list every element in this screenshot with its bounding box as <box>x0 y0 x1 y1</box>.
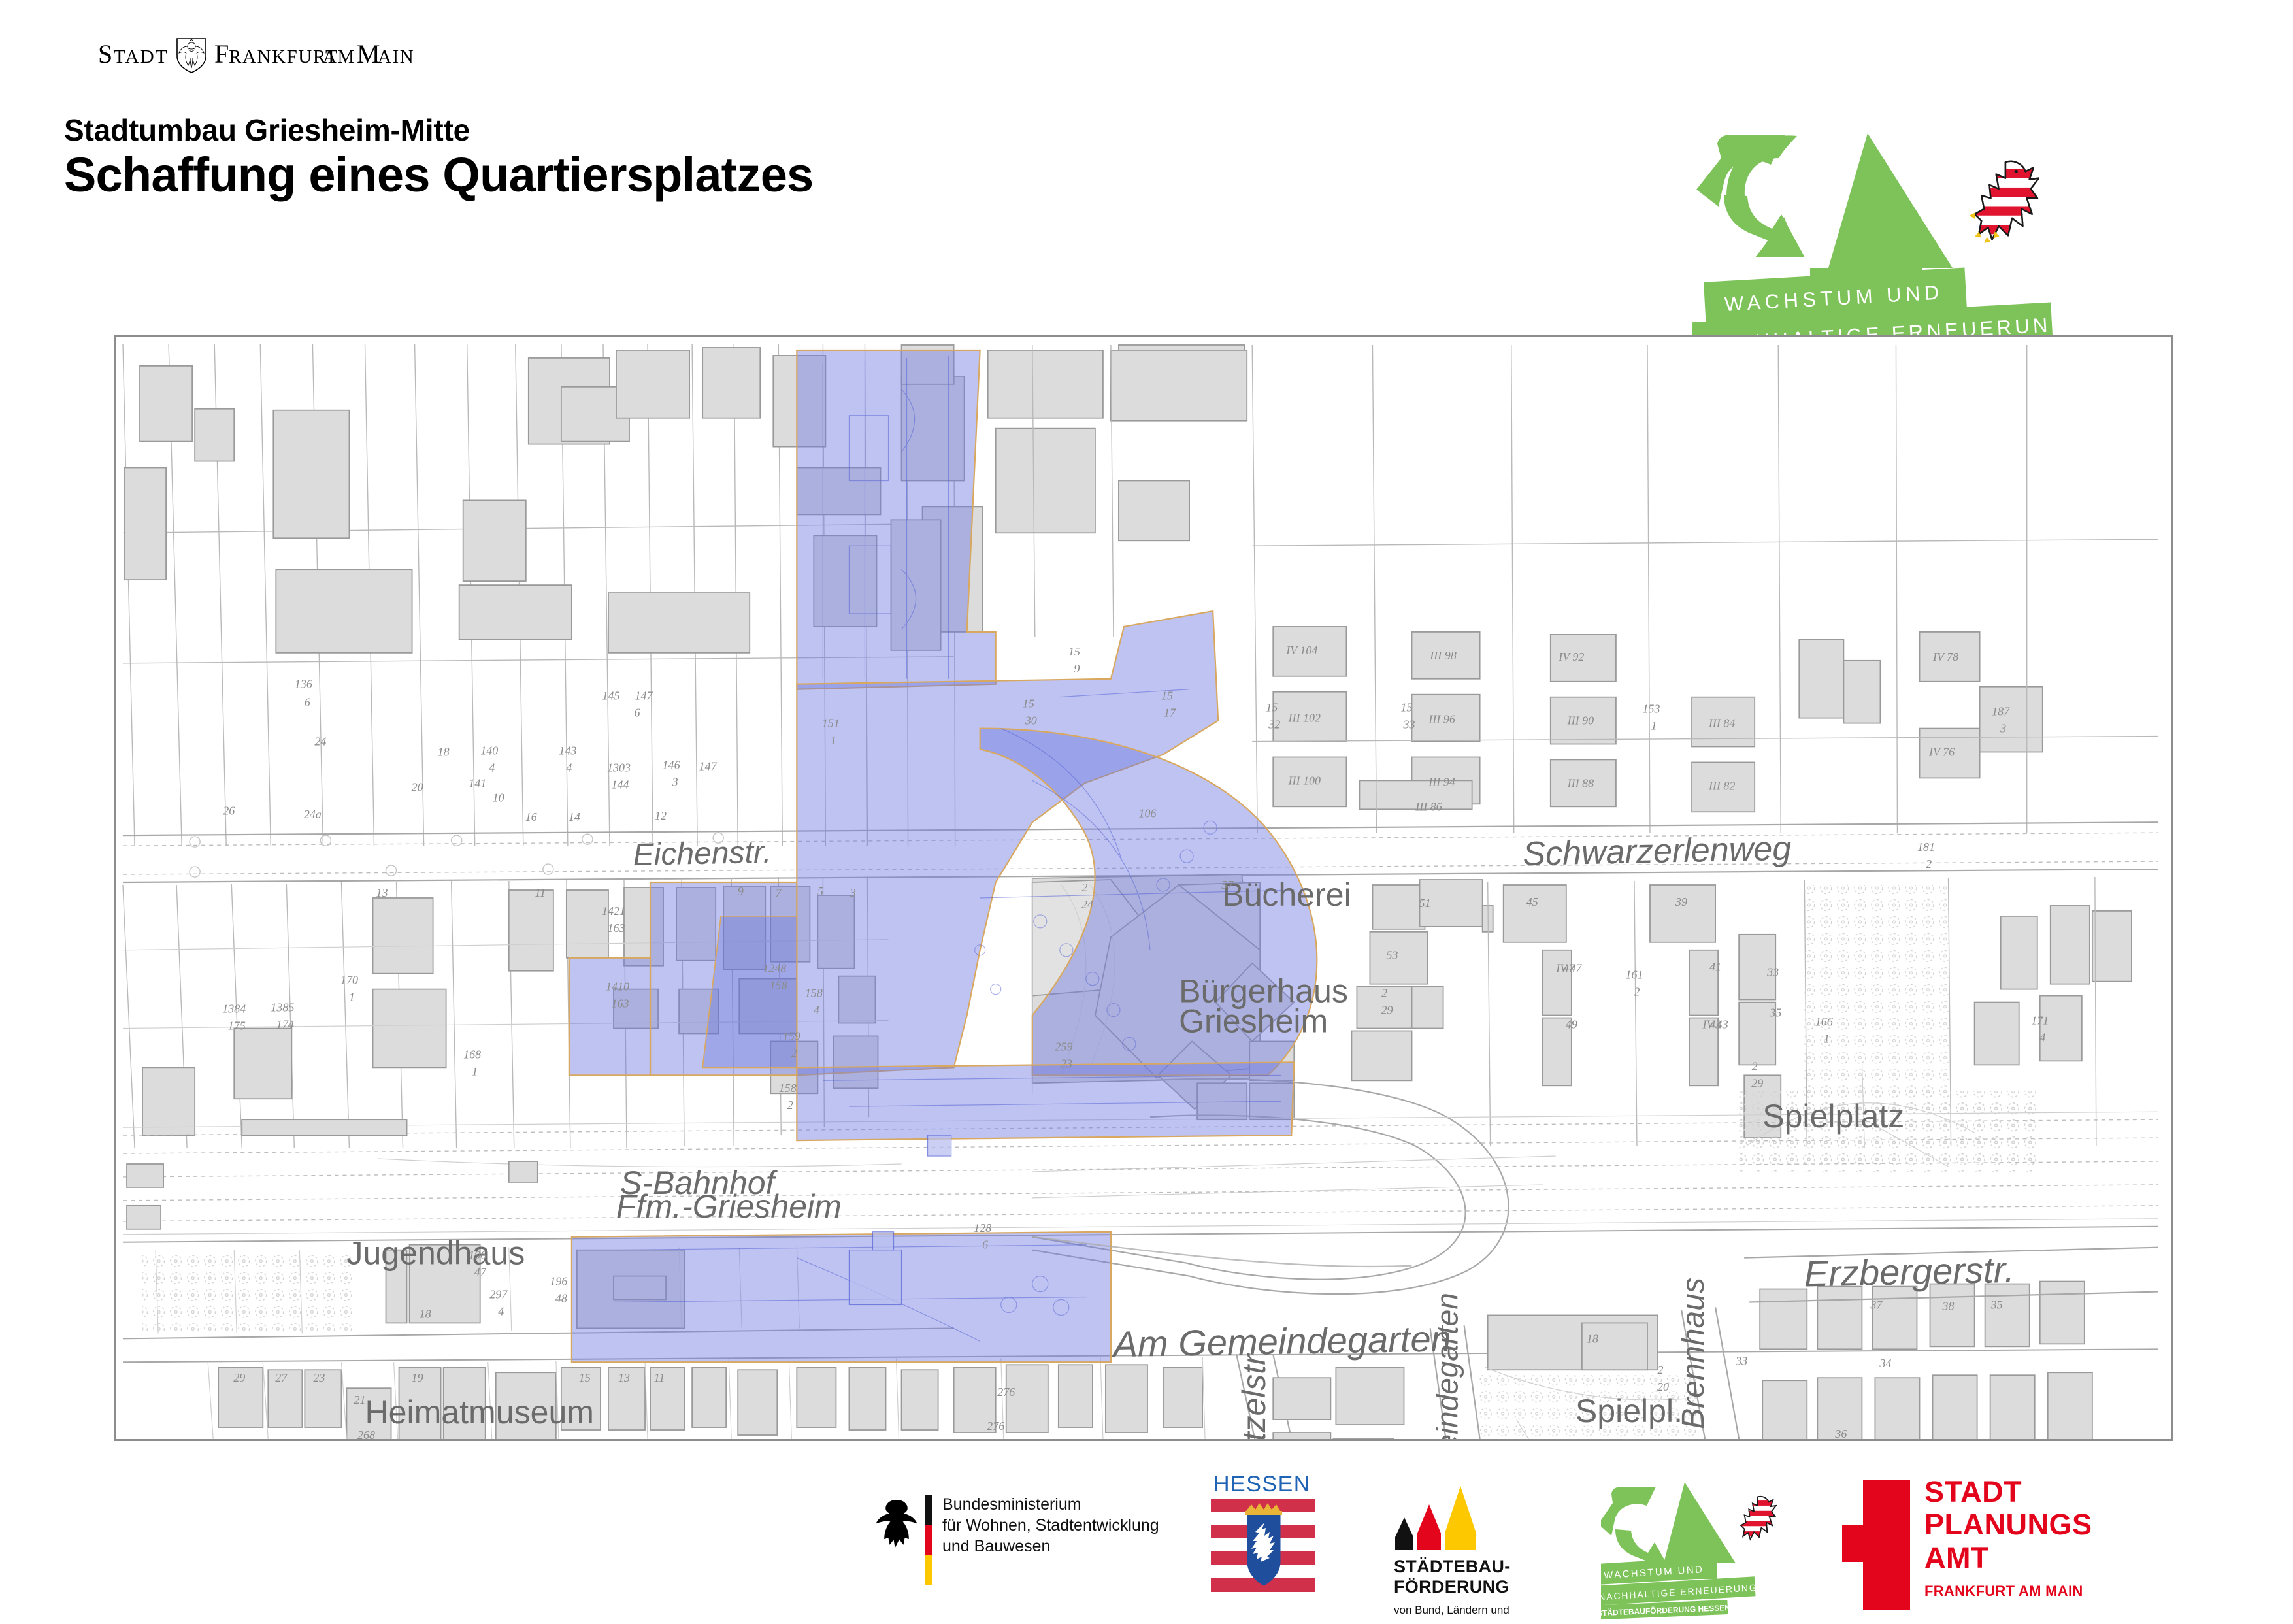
hessen-logo: HESSEN <box>1206 1470 1330 1621</box>
map-parcel-number: III 94 <box>1428 775 1455 788</box>
map-parcel-number: 2 <box>1381 987 1387 1000</box>
page-title: Schaffung eines Quartiersplatzes <box>64 150 813 201</box>
map-parcel-number: 268 <box>357 1429 375 1439</box>
map-parcel-number: 159 <box>783 1029 800 1042</box>
map-parcel-number: III 100 <box>1288 774 1321 787</box>
map-parcel-number: 158 <box>779 1082 797 1095</box>
map-parcel-number: 34 <box>1879 1357 1891 1370</box>
map-parcel-number: 21 <box>354 1393 365 1406</box>
map-parcel-number: 1421 <box>602 904 625 918</box>
staedtebau-sub2: Gemeinden <box>1394 1617 1556 1618</box>
bmwsb-line1: Bundesministerium <box>942 1494 1183 1515</box>
map-parcel-number: 23 <box>313 1371 325 1384</box>
staedtebau-line2: FÖRDERUNG <box>1394 1577 1556 1597</box>
map-parcel-number: 35 <box>1990 1299 2003 1312</box>
map-place-label: Spielplatz <box>1762 1098 1904 1135</box>
map-parcel-number: 32 <box>1268 718 1280 731</box>
page-subtitle: Stadtumbau Griesheim-Mitte <box>64 114 813 146</box>
map-parcel-number: 1 <box>349 991 355 1004</box>
map-parcel-number: 29 <box>1751 1076 1763 1089</box>
spa-line2: PLANUNGS <box>1924 1508 2179 1541</box>
program-logo-small: WACHSTUM UND NACHHALTIGE ERNEUERUNG STÄD… <box>1601 1470 1797 1621</box>
map-parcel-number: 151 <box>822 717 840 730</box>
map-parcel-number: III 82 <box>1708 779 1736 792</box>
map-parcel-number: 3 <box>672 775 678 788</box>
map-parcel-number: 35 <box>1769 1006 1781 1019</box>
map-parcel-number: 1410 <box>606 980 629 993</box>
map-parcel-number: 57 <box>1221 878 1234 891</box>
map-parcel-number: 163 <box>611 997 629 1010</box>
map-parcel-number: 2 <box>791 1046 797 1059</box>
map-parcel-number: 26 <box>223 804 235 817</box>
map-parcel-number: 143 <box>559 744 576 757</box>
map-parcel-number: 7 <box>776 886 782 899</box>
map-parcel-number: 11 <box>654 1371 665 1384</box>
map-parcel-number: 33 <box>1403 718 1415 731</box>
map-parcel-number: 144 <box>611 778 629 791</box>
map-parcel-number: 38 <box>1942 1299 1955 1312</box>
map-parcel-number: 36 <box>1834 1427 1847 1439</box>
map-parcel-number: 23 <box>1061 1057 1072 1070</box>
map-parcel-number: 147 <box>699 759 718 772</box>
svg-text:RANKFURT: RANKFURT <box>229 46 338 67</box>
map-parcel-number: 41 <box>1709 961 1721 974</box>
map-parcel-number: III 88 <box>1567 776 1594 789</box>
map-parcel-number: IV 47 <box>1555 962 1582 975</box>
map-parcel-number: IV 43 <box>1702 1018 1728 1031</box>
map-parcel-number: 15 <box>579 1371 591 1384</box>
svg-text:M: M <box>357 39 380 69</box>
map-parcel-number: 4 <box>498 1304 504 1317</box>
map-place-label: Spielpl. <box>1575 1393 1683 1429</box>
map-parcel-number: 9 <box>738 885 744 898</box>
map-parcel-number: III 86 <box>1415 800 1442 813</box>
map-parcel-number: 175 <box>228 1019 246 1033</box>
map-parcel-number: 181 <box>1917 840 1935 853</box>
map-parcel-number: 9 <box>1074 662 1080 675</box>
svg-text:F: F <box>214 39 229 69</box>
map-parcel-number: 11 <box>535 886 546 899</box>
map-place-label: Bücherei <box>1222 876 1351 913</box>
map-street-label: Am Gemeindegarten <box>1430 1293 1464 1439</box>
map-parcel-number: 15 <box>1401 701 1413 714</box>
map-parcel-number: 166 <box>1815 1016 1833 1029</box>
map-parcel-number: IV 76 <box>1928 746 1955 759</box>
map-parcel-number: 15 <box>1161 689 1173 703</box>
map-parcel-number: 19 <box>412 1371 423 1384</box>
map-parcel-number: 47 <box>474 1266 487 1279</box>
map-parcel-number: 29 <box>1381 1004 1393 1017</box>
map-parcel-number: 163 <box>607 921 625 935</box>
map-parcel-number: 170 <box>340 974 358 987</box>
map-parcel-number: 128 <box>974 1221 991 1235</box>
cadastral-map[interactable]: .bl{fill:#dcdcdc;stroke:#9a9a9a;stroke-w… <box>114 335 2173 1441</box>
map-parcel-number: 13 <box>376 886 388 899</box>
map-parcel-number: 158 <box>770 979 787 992</box>
map-parcel-number: 13 <box>618 1371 630 1384</box>
map-parcel-number: IV 92 <box>1558 650 1584 663</box>
map-parcel-number: 141 <box>469 776 486 789</box>
map-parcel-number: 196 <box>550 1275 567 1288</box>
map-street-label: Eichenstr. <box>633 835 772 872</box>
map-parcel-number: 4 <box>814 1004 819 1017</box>
spa-line3: AMT <box>1924 1542 2179 1574</box>
map-parcel-number: 2 <box>1081 881 1087 894</box>
svg-text:AM: AM <box>323 46 355 67</box>
title-block: Stadtumbau Griesheim-Mitte Schaffung ein… <box>64 114 813 201</box>
map-parcel-number: 30 <box>1025 714 1037 727</box>
map-street-label: Schwarzerlenweg <box>1523 830 1792 873</box>
map-parcel-number: 14 <box>569 810 580 823</box>
map-parcel-number: 6 <box>982 1238 988 1251</box>
svg-text:TADT: TADT <box>114 46 169 67</box>
map-parcel-number: 24a <box>304 808 322 821</box>
map-parcel-number: 196 <box>469 1249 486 1262</box>
map-parcel-number: 15 <box>1068 645 1080 658</box>
map-place-label: Jugendhaus <box>346 1235 525 1272</box>
map-parcel-number: 37 <box>1870 1299 1883 1312</box>
map-canvas[interactable]: .bl{fill:#dcdcdc;stroke:#9a9a9a;stroke-w… <box>116 337 2171 1439</box>
map-parcel-number: 259 <box>1055 1040 1072 1053</box>
map-parcel-number: 12 <box>655 809 667 822</box>
map-parcel-number: 24 <box>1081 898 1093 911</box>
map-parcel-number: 1384 <box>222 1003 246 1016</box>
map-place-label: Heimatmuseum <box>365 1394 594 1431</box>
map-parcel-number: III 90 <box>1567 714 1594 727</box>
staedtebau-sub1: von Bund, Ländern und <box>1394 1603 1556 1617</box>
map-parcel-number: III 102 <box>1288 712 1321 725</box>
map-parcel-number: 276 <box>997 1385 1015 1399</box>
map-parcel-number: 146 <box>663 758 680 771</box>
staedtebaufoerderung-logo: STÄDTEBAU- FÖRDERUNG von Bund, Ländern u… <box>1389 1470 1559 1621</box>
svg-text:AIN: AIN <box>378 46 414 67</box>
map-parcel-number: 2 <box>1752 1059 1758 1072</box>
map-parcel-number: 18 <box>1587 1332 1598 1345</box>
map-parcel-number: 1 <box>1824 1032 1830 1045</box>
map-parcel-number: 15 <box>1023 697 1034 710</box>
map-parcel-number: 171 <box>2031 1014 2049 1027</box>
map-parcel-number: 27 <box>275 1371 288 1384</box>
map-parcel-number: 2 <box>1926 857 1932 870</box>
map-parcel-number: IV 104 <box>1285 644 1317 657</box>
map-parcel-number: 20 <box>412 780 423 793</box>
staedtebau-line1: STÄDTEBAU- <box>1394 1557 1556 1577</box>
map-parcel-number: 4 <box>566 761 572 774</box>
map-parcel-number: 29 <box>233 1371 245 1384</box>
map-parcel-number: 3 <box>2000 722 2006 735</box>
map-parcel-number: 6 <box>305 696 310 709</box>
map-parcel-number: 1 <box>831 734 836 747</box>
map-parcel-number: IV 78 <box>1932 650 1958 663</box>
stadtplanungsamt-mark <box>1842 1480 1910 1610</box>
bmwsb-logo: Bundesministerium für Wohnen, Stadtentwi… <box>869 1470 1183 1621</box>
map-parcel-number: 168 <box>463 1048 481 1061</box>
map-parcel-number: 2 <box>1634 986 1640 999</box>
map-street-label: Erzbergerstr. <box>1804 1249 2015 1295</box>
map-parcel-number: 2 <box>787 1099 793 1112</box>
map-parcel-number: 49 <box>1566 1018 1577 1031</box>
map-street-label: Ffm.-Griesheim <box>616 1188 842 1225</box>
map-parcel-number: 153 <box>1642 703 1660 716</box>
map-place-label: Griesheim <box>1179 1003 1328 1040</box>
map-parcel-number: 20 <box>1657 1380 1669 1393</box>
map-parcel-number: 140 <box>480 744 498 757</box>
map-parcel-number: 145 <box>602 689 619 703</box>
map-parcel-number: 34 <box>448 1436 460 1439</box>
map-parcel-number: 48 <box>555 1292 567 1305</box>
bmwsb-line3: und Bauwesen <box>942 1536 1183 1557</box>
map-parcel-number: 15 <box>1266 701 1278 714</box>
map-parcel-number: 53 <box>1386 949 1398 962</box>
map-parcel-number: 16 <box>525 810 537 823</box>
city-logo: S TADT F RANKFURT AM M AIN <box>98 34 523 73</box>
map-parcel-number: 1385 <box>271 1001 294 1014</box>
map-parcel-number: III 96 <box>1428 713 1455 726</box>
map-parcel-number: 174 <box>276 1018 294 1031</box>
hessen-label: HESSEN <box>1213 1472 1311 1497</box>
map-parcel-number: 147 <box>635 689 653 703</box>
map-parcel-number: 1 <box>1651 720 1657 733</box>
map-parcel-number: 1248 <box>763 962 786 975</box>
map-street-label: Am Gemeindegarten <box>1111 1317 1451 1365</box>
map-parcel-number: 18 <box>438 746 450 759</box>
map-parcel-number: 161 <box>1625 969 1643 982</box>
map-parcel-number: III 84 <box>1708 717 1736 730</box>
spa-sub: FRANKFURT AM MAIN <box>1924 1583 2179 1600</box>
map-parcel-number: 276 <box>987 1419 1004 1433</box>
map-parcel-number: 2 <box>1657 1363 1663 1376</box>
map-parcel-number: III 98 <box>1429 649 1457 662</box>
map-parcel-number: 297 <box>489 1288 508 1301</box>
bmwsb-line2: für Wohnen, Stadtentwicklung <box>942 1515 1183 1536</box>
map-parcel-number: 39 <box>1675 895 1687 908</box>
map-parcel-number: 4 <box>2039 1031 2045 1044</box>
map-parcel-number: 51 <box>1419 897 1431 910</box>
map-parcel-number: 17 <box>1164 706 1176 720</box>
footer-logos: Bundesministerium für Wohnen, Stadtentwi… <box>0 1470 2293 1621</box>
map-parcel-number: 158 <box>805 987 823 1000</box>
map-parcel-number: 6 <box>635 706 640 720</box>
map-parcel-number: 3 <box>850 886 856 899</box>
map-parcel-number: 10 <box>493 791 504 804</box>
map-parcel-number: 18 <box>420 1307 431 1320</box>
map-parcel-number: 33 <box>1766 966 1779 979</box>
map-parcel-number: 136 <box>295 678 312 691</box>
stadtplanungsamt-logo: STADT PLANUNGS AMT FRANKFURT AM MAIN <box>1839 1470 2179 1621</box>
map-parcel-number: 106 <box>1138 806 1156 820</box>
spa-line1: STADT <box>1924 1476 2179 1508</box>
map-parcel-number: 45 <box>1526 895 1538 908</box>
map-street-label: Obere Rützelstr. <box>1236 1346 1272 1439</box>
map-parcel-number: 4 <box>489 761 495 774</box>
map-parcel-number: 33 <box>1735 1354 1747 1367</box>
map-parcel-number: 187 <box>1992 705 2010 718</box>
map-parcel-number: 1 <box>472 1065 478 1078</box>
map-parcel-number: 1303 <box>607 761 631 774</box>
map-parcel-number: 5 <box>817 885 823 898</box>
map-parcel-number: 24 <box>314 735 326 748</box>
svg-text:S: S <box>98 39 114 69</box>
